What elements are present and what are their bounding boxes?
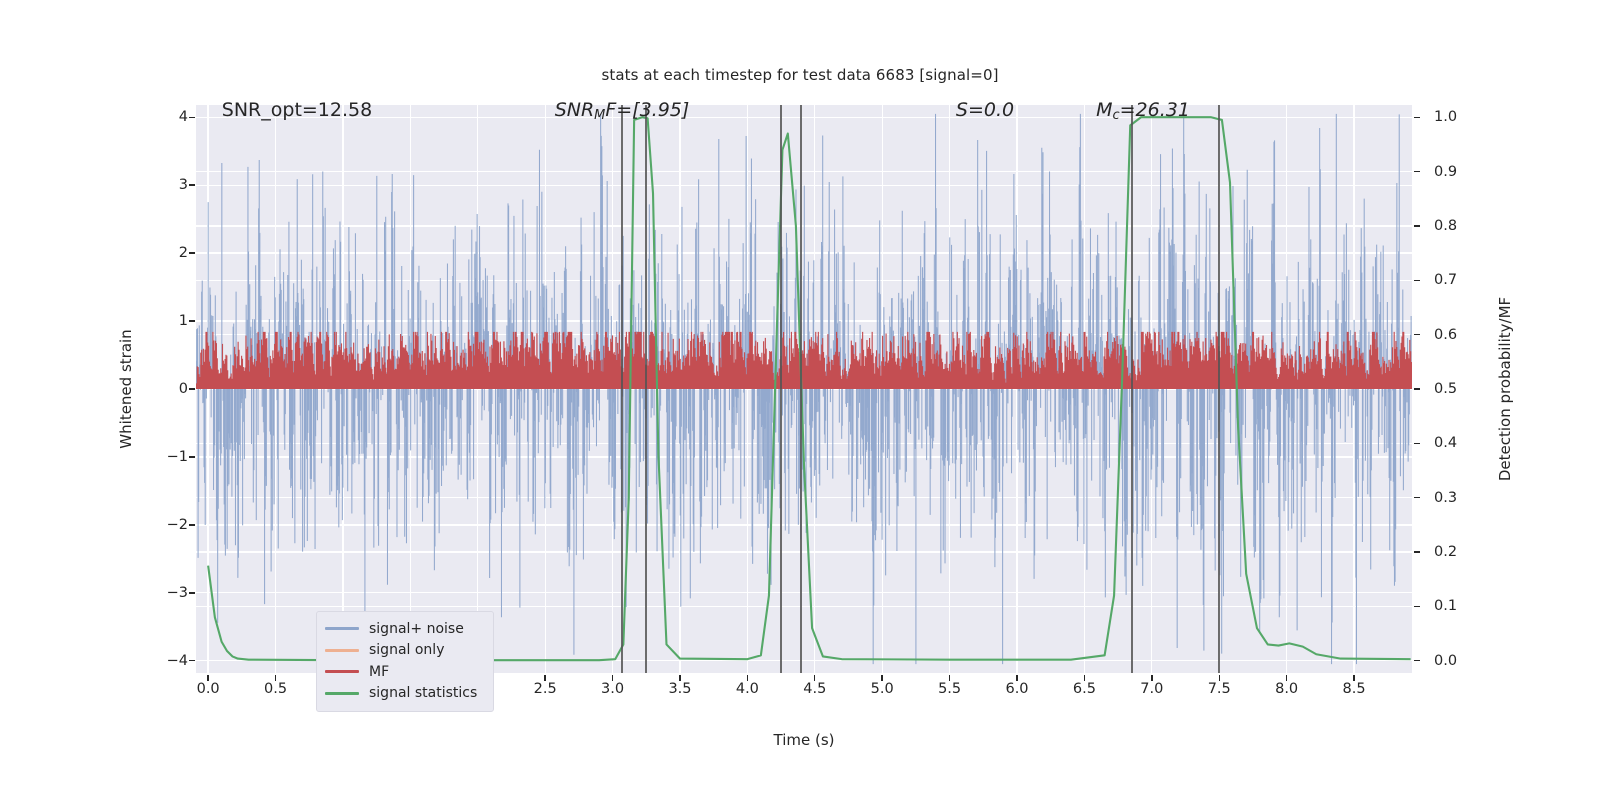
y-tick-label-left: 0 — [179, 381, 188, 397]
y-tick-mark-right — [1414, 551, 1420, 552]
y-tick-label-right: 0.3 — [1434, 490, 1457, 506]
chart-title: stats at each timestep for test data 668… — [0, 66, 1600, 84]
x-tick-mark — [814, 675, 815, 681]
y-tick-mark-left — [189, 252, 195, 253]
x-tick-mark — [1286, 675, 1287, 681]
y-tick-label-left: 1 — [179, 313, 188, 329]
event-marker-line — [645, 105, 647, 673]
y-tick-mark-left — [189, 456, 195, 457]
legend-color-swatch — [325, 649, 359, 652]
x-tick-mark — [747, 675, 748, 681]
y-tick-mark-right — [1414, 606, 1420, 607]
x-tick-mark — [1353, 675, 1354, 681]
event-marker-line — [621, 105, 623, 673]
annotation-symbol: SNR — [555, 99, 594, 121]
x-tick-label: 4.0 — [736, 681, 759, 697]
x-tick-label: 3.5 — [668, 681, 691, 697]
legend-item[interactable]: MF — [325, 661, 485, 683]
annotation-value: =0.0 — [968, 99, 1014, 121]
annotation-subscript: M — [594, 108, 605, 123]
legend-item-label: signal statistics — [369, 685, 477, 701]
x-tick-mark — [1151, 675, 1152, 681]
event-marker-line — [780, 105, 782, 673]
x-tick-mark — [679, 675, 680, 681]
y-tick-mark-right — [1414, 117, 1420, 118]
y-tick-label-right: 1.0 — [1434, 109, 1457, 125]
x-tick-mark — [275, 675, 276, 681]
legend-item-label: MF — [369, 664, 389, 680]
x-tick-label: 8.0 — [1275, 681, 1298, 697]
x-tick-label: 8.5 — [1342, 681, 1365, 697]
y-tick-mark-left — [189, 592, 195, 593]
x-tick-label: 7.5 — [1208, 681, 1231, 697]
y-tick-label-left: −3 — [167, 585, 188, 601]
x-axis-label: Time (s) — [774, 731, 835, 749]
annotation-symbol: M — [1096, 99, 1112, 121]
y-tick-mark-right — [1414, 497, 1420, 498]
annotation-snr-mf: SNRMF=[3.95] — [555, 99, 690, 123]
legend-item[interactable]: signal only — [325, 640, 485, 662]
plot-area[interactable] — [196, 105, 1412, 673]
x-tick-label: 0.0 — [197, 681, 220, 697]
y-tick-label-left: 4 — [179, 109, 188, 125]
x-tick-label: 3.0 — [601, 681, 624, 697]
event-marker-line — [1218, 105, 1220, 673]
x-tick-mark — [1219, 675, 1220, 681]
y-axis-label-right: Detection probability/MF — [1496, 297, 1514, 481]
y-tick-label-right: 0.2 — [1434, 544, 1457, 560]
x-tick-label: 5.0 — [871, 681, 894, 697]
x-tick-label: 7.0 — [1140, 681, 1163, 697]
x-tick-label: 0.5 — [264, 681, 287, 697]
y-tick-mark-left — [189, 388, 195, 389]
annotation-symbol: S — [956, 99, 968, 121]
event-marker-line — [1131, 105, 1133, 673]
y-tick-mark-left — [189, 660, 195, 661]
legend-color-swatch — [325, 670, 359, 673]
x-tick-label: 4.5 — [803, 681, 826, 697]
y-axis-label-left: Whitened strain — [117, 329, 135, 448]
legend-item-label: signal only — [369, 642, 444, 658]
y-tick-mark-right — [1414, 171, 1420, 172]
annotation-value: =26.31 — [1120, 99, 1190, 121]
y-tick-label-right: 0.9 — [1434, 164, 1457, 180]
x-tick-mark — [881, 675, 882, 681]
x-tick-label: 6.0 — [1005, 681, 1028, 697]
y-tick-label-left: −4 — [167, 653, 188, 669]
y-tick-mark-right — [1414, 443, 1420, 444]
y-tick-label-right: 0.5 — [1434, 381, 1457, 397]
legend-color-swatch — [325, 692, 359, 695]
figure-canvas: stats at each timestep for test data 668… — [0, 0, 1600, 800]
event-marker-lines — [196, 105, 1412, 673]
annotation-subscript: c — [1112, 108, 1119, 123]
event-marker-line — [800, 105, 802, 673]
x-tick-mark — [207, 675, 208, 681]
y-tick-label-right: 0.6 — [1434, 327, 1457, 343]
legend-color-swatch — [325, 627, 359, 630]
legend-item[interactable]: signal+ noise — [325, 618, 485, 640]
y-tick-mark-left — [189, 117, 195, 118]
legend[interactable]: signal+ noisesignal onlyMFsignal statist… — [316, 611, 494, 712]
y-tick-mark-right — [1414, 388, 1420, 389]
y-tick-mark-right — [1414, 334, 1420, 335]
x-tick-mark — [1016, 675, 1017, 681]
annotation-s-stat: S=0.0 — [956, 99, 1014, 121]
y-tick-label-right: 0.1 — [1434, 598, 1457, 614]
y-tick-label-left: −2 — [167, 517, 188, 533]
annotation-snr-opt: SNR_opt=12.58 — [222, 99, 372, 121]
y-tick-label-right: 0.0 — [1434, 653, 1457, 669]
x-tick-label: 5.5 — [938, 681, 961, 697]
annotation-value: F=[3.95] — [605, 99, 689, 121]
y-tick-mark-right — [1414, 280, 1420, 281]
y-tick-mark-left — [189, 184, 195, 185]
y-tick-mark-left — [189, 524, 195, 525]
annotation-chirp-mass: Mc=26.31 — [1096, 99, 1190, 123]
y-tick-mark-right — [1414, 660, 1420, 661]
x-tick-mark — [1084, 675, 1085, 681]
y-tick-label-left: 2 — [179, 245, 188, 261]
y-tick-mark-right — [1414, 225, 1420, 226]
y-tick-label-left: −1 — [167, 449, 188, 465]
x-tick-mark — [612, 675, 613, 681]
x-tick-mark — [949, 675, 950, 681]
y-tick-label-left: 3 — [179, 177, 188, 193]
x-tick-mark — [544, 675, 545, 681]
y-tick-mark-left — [189, 320, 195, 321]
x-tick-label: 2.5 — [534, 681, 557, 697]
y-tick-label-right: 0.4 — [1434, 435, 1457, 451]
y-tick-label-right: 0.7 — [1434, 272, 1457, 288]
y-tick-label-right: 0.8 — [1434, 218, 1457, 234]
legend-item-label: signal+ noise — [369, 621, 464, 637]
legend-item[interactable]: signal statistics — [325, 683, 485, 705]
x-tick-label: 6.5 — [1073, 681, 1096, 697]
